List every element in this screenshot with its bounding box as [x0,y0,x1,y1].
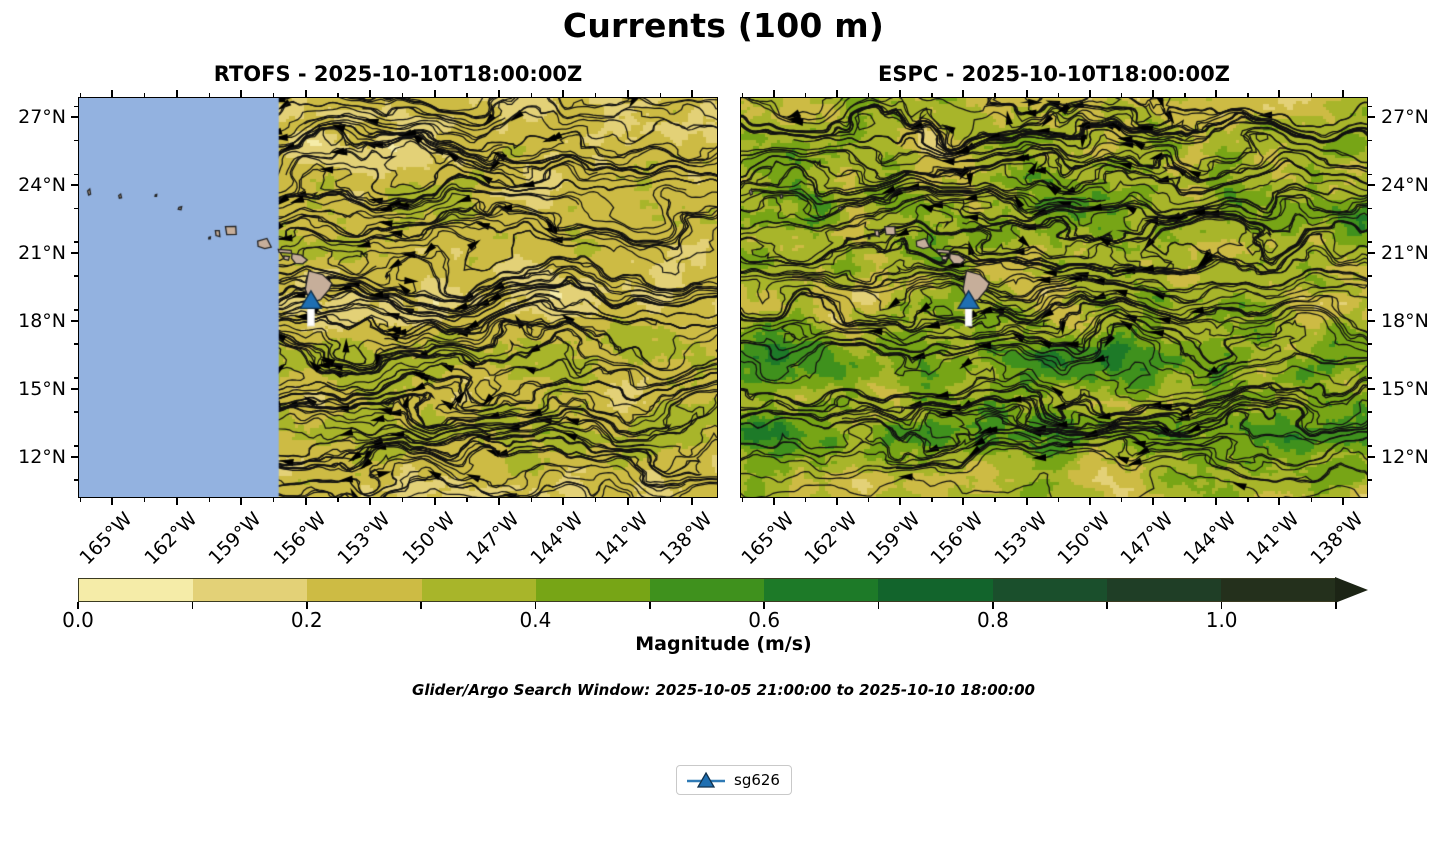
axis-tick [691,90,693,97]
current-field-rtofs [79,98,718,498]
xaxis-tick-label: 147°W [462,508,523,569]
axis-tick [1026,90,1028,97]
colorbar-tick-labels: 0.00.20.40.60.81.0 [78,608,1336,636]
xaxis-tick-label: 153°W [990,508,1051,569]
axis-tick [176,90,178,97]
xaxis-tick-label: 150°W [1053,508,1114,569]
yaxis-tick-label: 12°N [1381,446,1429,468]
xaxis-tick-label: 147°W [1116,508,1177,569]
axis-tick [627,90,629,97]
axis-tick [836,90,838,97]
colorbar-tick-label: 1.0 [1206,608,1238,632]
colorbar-band-6 [764,579,878,601]
xaxis-tick-label: 162°W [800,508,861,569]
xaxis-labels-left: 165°W162°W159°W156°W153°W150°W147°W144°W… [78,500,718,580]
axis-tick [369,90,371,97]
yaxis-tick-label: 15°N [18,378,66,400]
axis-tick [305,90,307,97]
yaxis-tick-label: 12°N [18,446,66,468]
axis-tick [1342,90,1344,97]
xaxis-tick-label: 150°W [398,508,459,569]
colorbar-band-10 [1221,579,1335,601]
axis-tick [1215,90,1217,97]
yaxis-tick-label: 24°N [1381,174,1429,196]
colorbar-title: Magnitude (m/s) [0,633,1447,655]
axis-tick [111,90,113,97]
axis-tick [962,90,964,97]
xaxis-tick-label: 144°W [527,508,588,569]
xaxis-tick-label: 165°W [76,508,137,569]
colorbar-extend-arrow [1335,577,1368,603]
xaxis-tick-label: 156°W [927,508,988,569]
yaxis-tick-label: 15°N [1381,378,1429,400]
colorbar-band-9 [1107,579,1221,601]
yaxis-tick-label: 21°N [1381,242,1429,264]
figure-canvas: Currents (100 m) RTOFS - 2025-10-10T18:0… [0,0,1447,863]
xaxis-tick-label: 162°W [140,508,201,569]
axis-tick [1152,90,1154,97]
xaxis-tick-label: 144°W [1180,508,1241,569]
colorbar-tick-label: 0.4 [520,608,552,632]
colorbar-band-5 [650,579,764,601]
xaxis-tick-label: 159°W [864,508,925,569]
yaxis-tick-label: 27°N [1381,106,1429,128]
axis-tick [562,90,564,97]
current-field-espc [741,98,1368,498]
colorbar-band-8 [993,579,1107,601]
xaxis-tick-label: 156°W [269,508,330,569]
colorbar-tick-label: 0.0 [62,608,94,632]
xaxis-tick-label: 138°W [656,508,717,569]
colorbar-band-3 [422,579,536,601]
axis-tick [899,90,901,97]
xaxis-tick-label: 159°W [205,508,266,569]
axis-tick [434,90,436,97]
colorbar-tick-label: 0.8 [977,608,1009,632]
colorbar-band-0 [79,579,193,601]
map-panel-rtofs[interactable] [78,97,718,498]
yaxis-tick-label: 27°N [18,106,66,128]
xaxis-labels-right: 165°W162°W159°W156°W153°W150°W147°W144°W… [740,500,1368,580]
xaxis-tick-label: 138°W [1306,508,1367,569]
page-title: Currents (100 m) [0,6,1447,45]
search-window-note: Glider/Argo Search Window: 2025-10-05 21… [0,681,1447,699]
yaxis-tick-label: 18°N [18,310,66,332]
legend-label-sg626: sg626 [734,771,780,789]
yaxis-tick-label: 18°N [1381,310,1429,332]
xaxis-tick-label: 141°W [1243,508,1304,569]
xaxis-tick-label: 153°W [333,508,394,569]
yaxis-labels-right: 27°N24°N21°N18°N15°N12°N [1371,97,1447,498]
panel-title-rtofs: RTOFS - 2025-10-10T18:00:00Z [78,62,718,86]
axis-tick [1089,90,1091,97]
axis-tick [773,90,775,97]
colorbar-band-4 [536,579,650,601]
xaxis-tick-label: 165°W [737,508,798,569]
panel-title-espc: ESPC - 2025-10-10T18:00:00Z [740,62,1368,86]
legend-marker-triangle-icon [686,770,726,790]
axis-tick [240,90,242,97]
map-panel-espc[interactable] [740,97,1368,498]
yaxis-labels-left: 27°N24°N21°N18°N15°N12°N [0,97,76,498]
legend[interactable]: sg626 [676,765,792,795]
colorbar [78,578,1368,602]
colorbar-band-2 [307,579,421,601]
colorbar-tick-label: 0.2 [291,608,323,632]
colorbar-tick-label: 0.6 [748,608,780,632]
axis-tick [498,90,500,97]
yaxis-tick-label: 21°N [18,242,66,264]
colorbar-band-1 [193,579,307,601]
axis-tick [1278,90,1280,97]
colorbar-band-7 [878,579,992,601]
colorbar-bands [78,578,1336,602]
xaxis-tick-label: 141°W [591,508,652,569]
yaxis-tick-label: 24°N [18,174,66,196]
